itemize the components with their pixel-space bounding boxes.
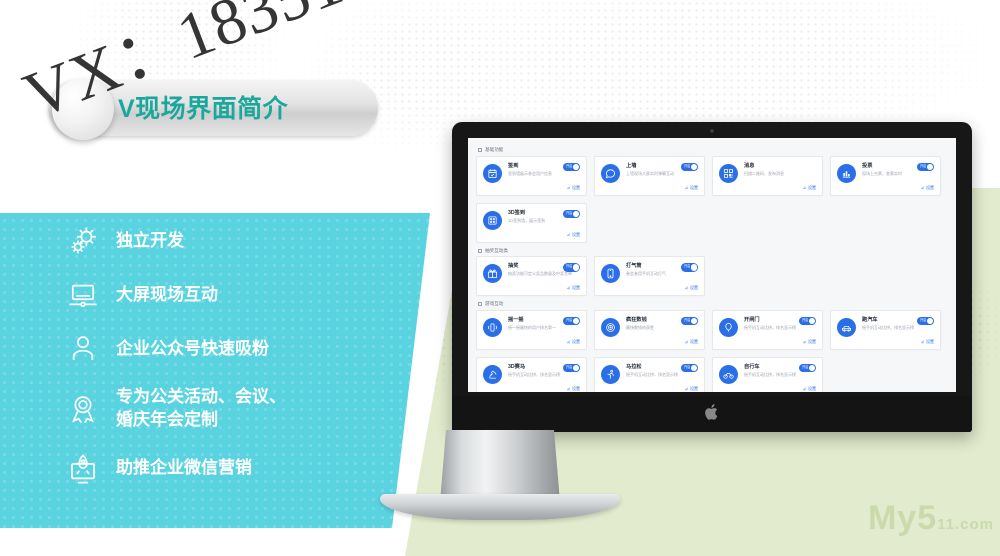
medal-icon — [60, 392, 106, 426]
site-watermark-name: My5 — [868, 499, 937, 537]
toggle-label: 开启 — [920, 165, 926, 168]
target-icon — [601, 318, 620, 337]
feature-card[interactable]: 自行车摇手机互动比拼，排名显示榜开启设置 — [712, 357, 823, 392]
card-description: 摇手机互动比拼，排名显示榜 — [626, 372, 678, 377]
enable-toggle[interactable]: 开启 — [563, 210, 580, 219]
settings-label: 设置 — [690, 285, 698, 291]
card-description: 现场上台票，各票实时 — [862, 171, 902, 176]
title-knob-circle — [52, 78, 114, 140]
card-title: 跑汽车 — [862, 317, 914, 323]
toggle-label: 开启 — [684, 165, 690, 168]
toggle-label: 开启 — [802, 366, 808, 369]
enable-toggle[interactable]: 开启 — [563, 163, 580, 172]
panel-bottom-spacer — [0, 528, 400, 556]
settings-link[interactable]: 设置 — [567, 232, 580, 238]
car-icon — [837, 318, 856, 337]
feature-card[interactable]: 跑汽车摇手机互动比拼，排名显示榜开启设置 — [830, 310, 941, 350]
enable-toggle[interactable]: 开启 — [681, 364, 698, 373]
collapse-icon[interactable] — [478, 249, 482, 253]
apple-logo-icon — [704, 403, 720, 421]
toggle-label: 开启 — [566, 366, 572, 369]
toggle-label: 开启 — [566, 265, 572, 268]
feature-label: 专为公关活动、会议、婚庆年会定制 — [116, 386, 286, 432]
toggle-label: 开启 — [684, 319, 690, 322]
settings-link[interactable]: 设置 — [921, 185, 934, 191]
collapse-icon[interactable] — [478, 148, 482, 152]
section-title: 游戏互动 — [485, 302, 503, 307]
settings-link[interactable]: 设置 — [803, 386, 816, 392]
card-description: 摇一摇最快的用户排名第一 — [508, 325, 556, 330]
settings-label: 设置 — [926, 339, 934, 345]
card-description: 摇手机互动比拼，排名显示榜 — [508, 372, 560, 377]
card-title: 疯狂数钱 — [626, 317, 654, 323]
imac-mockup: 基础功能签到签到墙展示参会用户信息开启设置上墙上墙现场大屏实时弹幕互动开启设置消… — [452, 122, 972, 432]
card-title: 3D赛马 — [508, 364, 560, 370]
card-row: 抽奖抽奖功能可定义奖品数量及中奖名单开启设置打气筒参会者用手机互动打气开启设置 — [476, 256, 948, 296]
toggle-label: 开启 — [920, 319, 926, 322]
settings-label: 设置 — [808, 185, 816, 191]
toggle-label: 开启 — [684, 265, 690, 268]
card-description: 上墙现场大屏实时弹幕互动 — [626, 171, 674, 176]
card-description: 摇手机互动比拼，排名显示榜 — [862, 325, 914, 330]
section-header: 基础功能 — [478, 148, 948, 153]
bike-icon — [719, 365, 738, 384]
site-watermark: My511.com — [868, 499, 994, 538]
settings-link[interactable]: 设置 — [803, 339, 816, 345]
feature-card[interactable]: 抽奖抽奖功能可定义奖品数量及中奖名单开启设置 — [476, 256, 587, 296]
toggle-label: 开启 — [566, 165, 572, 168]
settings-label: 设置 — [572, 185, 580, 191]
card-title: 打气筒 — [626, 263, 666, 269]
settings-link[interactable]: 设置 — [567, 185, 580, 191]
gift-icon — [483, 264, 502, 283]
card-title: 上墙 — [626, 163, 674, 169]
card-title: 马拉松 — [626, 364, 678, 370]
site-watermark-suffix: 11.com — [937, 516, 994, 533]
settings-label: 设置 — [690, 339, 698, 345]
feature-item: 大屏现场互动 — [60, 278, 390, 312]
qrcode-icon — [719, 164, 738, 183]
monitor-stand-neck — [440, 430, 560, 502]
section-title: 基础功能 — [485, 148, 503, 153]
card-title: 消息 — [744, 163, 784, 169]
enable-toggle[interactable]: 开启 — [681, 317, 698, 326]
cube3d-icon — [483, 211, 502, 230]
settings-label: 设置 — [690, 386, 698, 392]
enable-toggle[interactable]: 开启 — [917, 163, 934, 172]
laptop-icon — [60, 278, 106, 312]
monitor-chin — [452, 396, 972, 432]
checkin-icon — [483, 164, 502, 183]
card-row: 摇一摇摇一摇最快的用户排名第一开启设置疯狂数钱最快数钱的获胜开启设置开闸门摇手机… — [476, 310, 948, 392]
shake-icon — [483, 318, 502, 337]
feature-card[interactable]: 打气筒参会者用手机互动打气开启设置 — [594, 256, 705, 296]
settings-link[interactable]: 设置 — [685, 185, 698, 191]
poster-canvas: 基础功能签到签到墙展示参会用户信息开启设置上墙上墙现场大屏实时弹幕互动开启设置消… — [0, 0, 1000, 556]
toggle-label: 开启 — [802, 319, 808, 322]
card-description: 签到墙展示参会用户信息 — [508, 171, 552, 176]
settings-link[interactable]: 设置 — [685, 386, 698, 392]
card-title: 投票 — [862, 163, 902, 169]
admin-console: 基础功能签到签到墙展示参会用户信息开启设置上墙上墙现场大屏实时弹幕互动开启设置消… — [468, 138, 956, 392]
feature-label: 助推企业微信营销 — [116, 457, 252, 480]
person-icon — [60, 332, 106, 366]
settings-link[interactable]: 设置 — [567, 339, 580, 345]
card-description: 抽奖功能可定义奖品数量及中奖名单 — [508, 271, 572, 276]
card-title: 自行车 — [744, 364, 796, 370]
settings-link[interactable]: 设置 — [685, 285, 698, 291]
settings-label: 设置 — [926, 185, 934, 191]
enable-toggle[interactable]: 开启 — [799, 317, 816, 326]
toggle-label: 开启 — [566, 319, 572, 322]
enable-toggle[interactable]: 开启 — [563, 364, 580, 373]
card-description: 最快数钱的获胜 — [626, 325, 654, 330]
page-title: V现场界面简介 — [118, 90, 368, 128]
rocket-screen-icon — [60, 452, 106, 486]
enable-toggle[interactable]: 开启 — [563, 263, 580, 272]
toggle-label: 开启 — [566, 212, 572, 215]
card-description: 3D签到墙，展示签到 — [508, 218, 545, 223]
feature-card[interactable]: 疯狂数钱最快数钱的获胜开启设置 — [594, 310, 705, 350]
feature-label: 大屏现场互动 — [116, 284, 218, 307]
balloon-icon — [719, 318, 738, 337]
settings-label: 设置 — [572, 386, 580, 392]
settings-label: 设置 — [808, 339, 816, 345]
feature-label: 独立开发 — [116, 230, 184, 253]
card-title: 开闸门 — [744, 317, 796, 323]
section-header: 游戏互动 — [478, 302, 948, 307]
webcam-dot — [710, 129, 714, 133]
card-description: 扫描二维码，发布消息 — [744, 171, 784, 176]
settings-label: 设置 — [572, 232, 580, 238]
card-description: 摇手机互动比拼，排名显示榜 — [744, 325, 796, 330]
section-header: 抽奖互动类 — [478, 249, 948, 254]
feature-item: 独立开发 — [60, 224, 390, 258]
toggle-label: 开启 — [684, 366, 690, 369]
card-title: 摇一摇 — [508, 317, 556, 323]
feature-card[interactable]: 上墙上墙现场大屏实时弹幕互动开启设置 — [594, 156, 705, 196]
settings-link[interactable]: 设置 — [685, 339, 698, 345]
gears-icon — [60, 224, 106, 258]
settings-link[interactable]: 设置 — [567, 285, 580, 291]
settings-label: 设置 — [572, 285, 580, 291]
horse-icon — [483, 365, 502, 384]
card-title: 3D签到 — [508, 210, 545, 216]
feature-card[interactable]: 投票现场上台票，各票实时开启设置 — [830, 156, 941, 196]
enable-toggle[interactable]: 开启 — [799, 364, 816, 373]
enable-toggle[interactable]: 开启 — [681, 263, 698, 272]
settings-label: 设置 — [572, 339, 580, 345]
settings-label: 设置 — [808, 386, 816, 392]
feature-item: 企业公众号快速吸粉 — [60, 332, 390, 366]
enable-toggle[interactable]: 开启 — [681, 163, 698, 172]
card-description: 摇手机互动比拼，排名显示榜 — [744, 372, 796, 377]
enable-toggle[interactable]: 开启 — [563, 317, 580, 326]
feature-card[interactable]: 开闸门摇手机互动比拼，排名显示榜开启设置 — [712, 310, 823, 350]
phone-icon — [601, 264, 620, 283]
enable-toggle[interactable]: 开启 — [917, 317, 934, 326]
message-icon — [601, 164, 620, 183]
runner-icon — [601, 365, 620, 384]
feature-card[interactable]: 摇一摇摇一摇最快的用户排名第一开启设置 — [476, 310, 587, 350]
feature-card[interactable]: 消息扫描二维码，发布消息设置 — [712, 156, 823, 196]
settings-link[interactable]: 设置 — [921, 339, 934, 345]
feature-item: 专为公关活动、会议、婚庆年会定制 — [60, 386, 390, 432]
card-title: 签到 — [508, 163, 552, 169]
feature-item: 助推企业微信营销 — [60, 452, 390, 486]
card-row: 签到签到墙展示参会用户信息开启设置上墙上墙现场大屏实时弹幕互动开启设置消息扫描二… — [476, 156, 948, 243]
collapse-icon[interactable] — [478, 302, 482, 306]
feature-card[interactable]: 3D签到3D签到墙，展示签到开启设置 — [476, 203, 587, 243]
settings-link[interactable]: 设置 — [567, 386, 580, 392]
card-description: 参会者用手机互动打气 — [626, 271, 666, 276]
feature-list: 独立开发大屏现场互动企业公众号快速吸粉专为公关活动、会议、婚庆年会定制助推企业微… — [60, 224, 390, 506]
feature-card[interactable]: 马拉松摇手机互动比拼，排名显示榜开启设置 — [594, 357, 705, 392]
settings-link[interactable]: 设置 — [803, 185, 816, 191]
section-title: 抽奖互动类 — [485, 249, 508, 254]
monitor-screen: 基础功能签到签到墙展示参会用户信息开启设置上墙上墙现场大屏实时弹幕互动开启设置消… — [468, 138, 956, 392]
feature-card[interactable]: 签到签到墙展示参会用户信息开启设置 — [476, 156, 587, 196]
settings-label: 设置 — [690, 185, 698, 191]
feature-card[interactable]: 3D赛马摇手机互动比拼，排名显示榜开启设置 — [476, 357, 587, 392]
chart-icon — [837, 164, 856, 183]
feature-label: 企业公众号快速吸粉 — [116, 338, 269, 361]
